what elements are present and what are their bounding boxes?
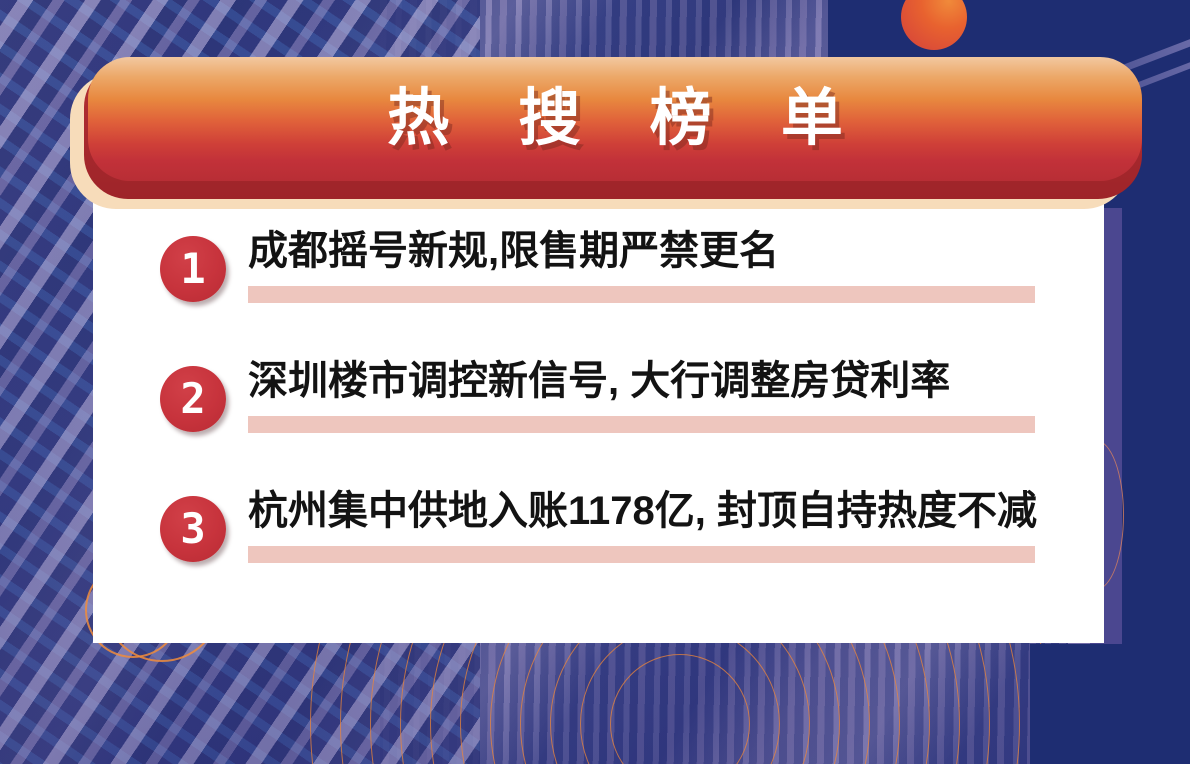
page-title: 热 搜 榜 单 (361, 88, 869, 150)
navy-bottom-right-block (1030, 644, 1190, 764)
rank-badge: 1 (160, 236, 226, 302)
list-item-label: 杭州集中供地入账1178亿, 封顶自持热度不减 (248, 488, 1104, 534)
banner-main-layer: 热 搜 榜 单 (88, 57, 1142, 181)
rank-underline-bar (248, 546, 1035, 563)
poster-root: 热 搜 榜 单 1 成都摇号新规,限售期严禁更名 2 深圳楼市调控新信号, 大行… (0, 0, 1190, 764)
list-item[interactable]: 1 成都摇号新规,限售期严禁更名 (93, 228, 1104, 358)
rank-badge: 3 (160, 496, 226, 562)
rank-underline-bar (248, 416, 1035, 433)
list-item-label: 深圳楼市调控新信号, 大行调整房贷利率 (248, 358, 1104, 404)
rank-underline-bar (248, 286, 1035, 303)
title-banner: 热 搜 榜 单 (70, 57, 1146, 209)
list-item[interactable]: 3 杭州集中供地入账1178亿, 封顶自持热度不减 (93, 488, 1104, 618)
list-item[interactable]: 2 深圳楼市调控新信号, 大行调整房贷利率 (93, 358, 1104, 488)
list-item-body: 杭州集中供地入账1178亿, 封顶自持热度不减 (248, 488, 1104, 534)
hot-search-list: 1 成都摇号新规,限售期严禁更名 2 深圳楼市调控新信号, 大行调整房贷利率 3… (93, 228, 1104, 618)
list-item-body: 深圳楼市调控新信号, 大行调整房贷利率 (248, 358, 1104, 404)
rank-badge: 2 (160, 366, 226, 432)
list-item-label: 成都摇号新规,限售期严禁更名 (248, 228, 1104, 274)
list-item-body: 成都摇号新规,限售期严禁更名 (248, 228, 1104, 274)
